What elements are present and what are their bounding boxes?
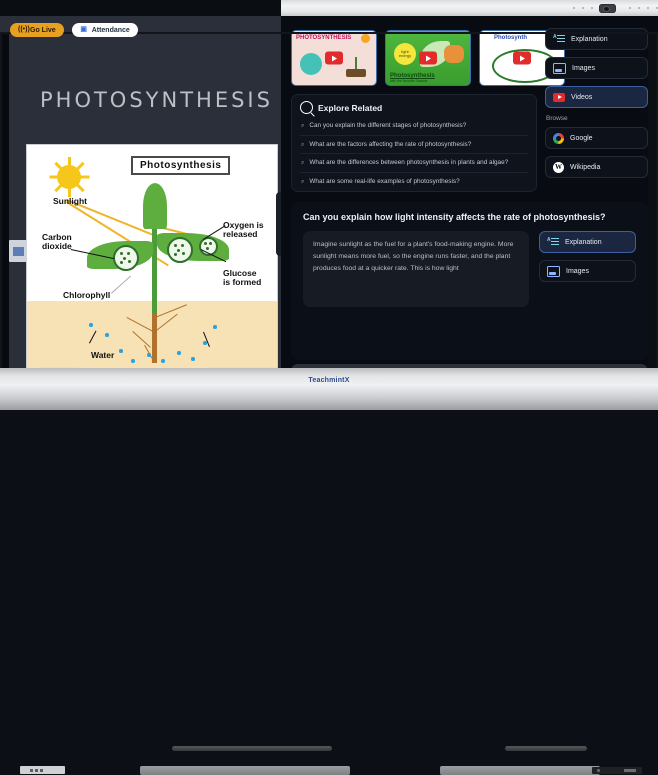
attendance-label: Attendance <box>92 27 130 34</box>
youtube-play-icon <box>513 52 531 65</box>
video-results: PHOTOSYNTHESIS lightenergy Photosynthesi… <box>291 30 565 86</box>
screen-left-margin <box>0 32 9 384</box>
explore-header: Explore Related <box>300 101 528 114</box>
youtube-play-icon <box>419 52 437 65</box>
people-icon: ▣ <box>80 26 88 34</box>
label-glucose: Glucoseis formed <box>223 269 261 287</box>
light-energy-icon: lightenergy <box>394 43 416 65</box>
answer-action-images[interactable]: Images <box>539 260 636 282</box>
plant-root <box>152 313 157 363</box>
text-lines-icon <box>553 34 565 44</box>
device-brand-label: TeachmintX <box>0 377 658 384</box>
related-question[interactable]: ⌕ What are the factors affecting the rat… <box>300 136 528 155</box>
browse-button-wikipedia[interactable]: W Wikipedia <box>545 156 648 178</box>
device-bottom-bezel <box>0 368 658 410</box>
label-chlorophyll: Chlorophyll <box>63 291 110 300</box>
video-thumbnail[interactable]: lightenergy Photosynthesis with the favo… <box>385 30 471 86</box>
explore-title: Explore Related <box>318 103 382 113</box>
search-icon: ⌕ <box>301 159 304 168</box>
mode-button-explanation[interactable]: Explanation <box>545 28 648 50</box>
browse-label: Wikipedia <box>570 164 600 171</box>
left-thumbnail-icon[interactable] <box>9 240 27 262</box>
browse-label: Google <box>570 135 593 142</box>
port-panel <box>20 766 65 774</box>
bezel-dots-right <box>629 7 658 9</box>
diagram-title: Photosynthesis <box>131 156 230 175</box>
google-icon <box>553 133 564 144</box>
broadcast-icon: ((•)) <box>18 26 26 34</box>
bezel-dots-left <box>573 7 593 9</box>
video-thumbnail[interactable]: PHOTOSYNTHESIS <box>291 30 377 86</box>
browse-heading: Browse <box>546 115 648 122</box>
chloroplast-right <box>167 237 193 263</box>
speaker-grille-left <box>172 746 332 751</box>
answer-actions: Explanation Images <box>539 231 636 307</box>
canvas-handwritten-title: PHOTOSYNTHESIS <box>40 88 280 112</box>
answer-text: Imagine sunlight as the fuel for a plant… <box>313 239 519 275</box>
related-question-text: Can you explain the different stages of … <box>309 121 466 130</box>
screenshot-root: ((•)) Go Live ▣ Attendance PHOTOSYNTHESI… <box>0 0 658 410</box>
bezel-strip-right <box>440 766 600 775</box>
bezel-strip-left <box>140 766 350 775</box>
answer-action-explanation[interactable]: Explanation <box>539 231 636 253</box>
character-illustration <box>444 45 464 63</box>
mode-label: Images <box>572 65 595 72</box>
device-top-bezel <box>281 0 658 17</box>
video-subtitle: with the favorite Saranis <box>390 79 427 83</box>
search-icon <box>300 101 313 114</box>
answer-panel: Can you explain how light intensity affe… <box>291 202 648 360</box>
ai-assistant-panel: PHOTOSYNTHESIS lightenergy Photosynthesi… <box>281 16 658 368</box>
related-question[interactable]: ⌕ Can you explain the different stages o… <box>300 117 528 136</box>
youtube-play-icon <box>325 52 343 65</box>
plant-illustration <box>342 51 370 77</box>
image-icon <box>547 266 560 277</box>
right-port-panel <box>592 767 642 774</box>
mode-button-videos[interactable]: Videos <box>545 86 648 108</box>
label-sunlight: Sunlight <box>53 197 87 206</box>
video-title: PHOTOSYNTHESIS <box>296 35 351 41</box>
related-question-text: What are some real-life examples of phot… <box>309 177 459 186</box>
screen-right-margin <box>648 32 658 384</box>
photosynthesis-diagram[interactable]: Photosynthesis Sunlight Carbondioxide <box>26 144 278 368</box>
label-oxygen: Oxygen isreleased <box>223 221 264 239</box>
related-question-text: What are the factors affecting the rate … <box>309 140 471 149</box>
mode-label: Explanation <box>571 36 608 43</box>
answer-question: Can you explain how light intensity affe… <box>303 212 636 222</box>
image-icon <box>553 63 566 74</box>
mode-button-images[interactable]: Images <box>545 57 648 79</box>
search-icon: ⌕ <box>301 122 304 131</box>
search-icon: ⌕ <box>301 141 304 150</box>
mode-label: Videos <box>571 94 592 101</box>
answer-action-label: Images <box>566 268 589 275</box>
browse-button-google[interactable]: Google <box>545 127 648 149</box>
answer-action-label: Explanation <box>565 239 602 246</box>
leaf-top <box>143 183 167 229</box>
illustration-blob <box>300 53 322 75</box>
search-icon: ⌕ <box>301 178 304 187</box>
explore-related-card: Explore Related ⌕ Can you explain the di… <box>291 94 537 192</box>
display-screen: ((•)) Go Live ▣ Attendance PHOTOSYNTHESI… <box>0 16 658 368</box>
video-title: Photosynth <box>494 35 527 41</box>
wikipedia-icon: W <box>553 162 564 173</box>
answer-body: Imagine sunlight as the fuel for a plant… <box>303 231 636 307</box>
label-water: Water <box>91 351 114 360</box>
mode-and-browse-sidebar: Explanation Images Videos Browse Google <box>545 28 648 185</box>
related-question-text: What are the differences between photosy… <box>309 158 508 167</box>
related-question[interactable]: ⌕ What are some real-life examples of ph… <box>300 173 528 191</box>
answer-text-card: Imagine sunlight as the fuel for a plant… <box>303 231 529 307</box>
related-question[interactable]: ⌕ What are the differences between photo… <box>300 154 528 173</box>
sun-icon <box>49 157 89 197</box>
go-live-button[interactable]: ((•)) Go Live <box>10 23 64 37</box>
webcam-module <box>599 4 616 13</box>
go-live-label: Go Live <box>30 27 56 34</box>
device-shell: ((•)) Go Live ▣ Attendance PHOTOSYNTHESI… <box>0 0 658 372</box>
whiteboard-top-controls: ((•)) Go Live ▣ Attendance <box>10 23 138 37</box>
sun-icon <box>361 34 370 43</box>
youtube-icon <box>553 93 565 102</box>
label-carbon-dioxide: Carbondioxide <box>42 233 72 251</box>
text-lines-icon <box>547 237 559 247</box>
attendance-button[interactable]: ▣ Attendance <box>72 23 138 37</box>
chloroplast-left <box>113 245 139 271</box>
whiteboard-panel: ((•)) Go Live ▣ Attendance PHOTOSYNTHESI… <box>0 16 281 368</box>
speaker-grille-right <box>505 746 587 751</box>
arrow-chlorophyll <box>111 276 131 294</box>
